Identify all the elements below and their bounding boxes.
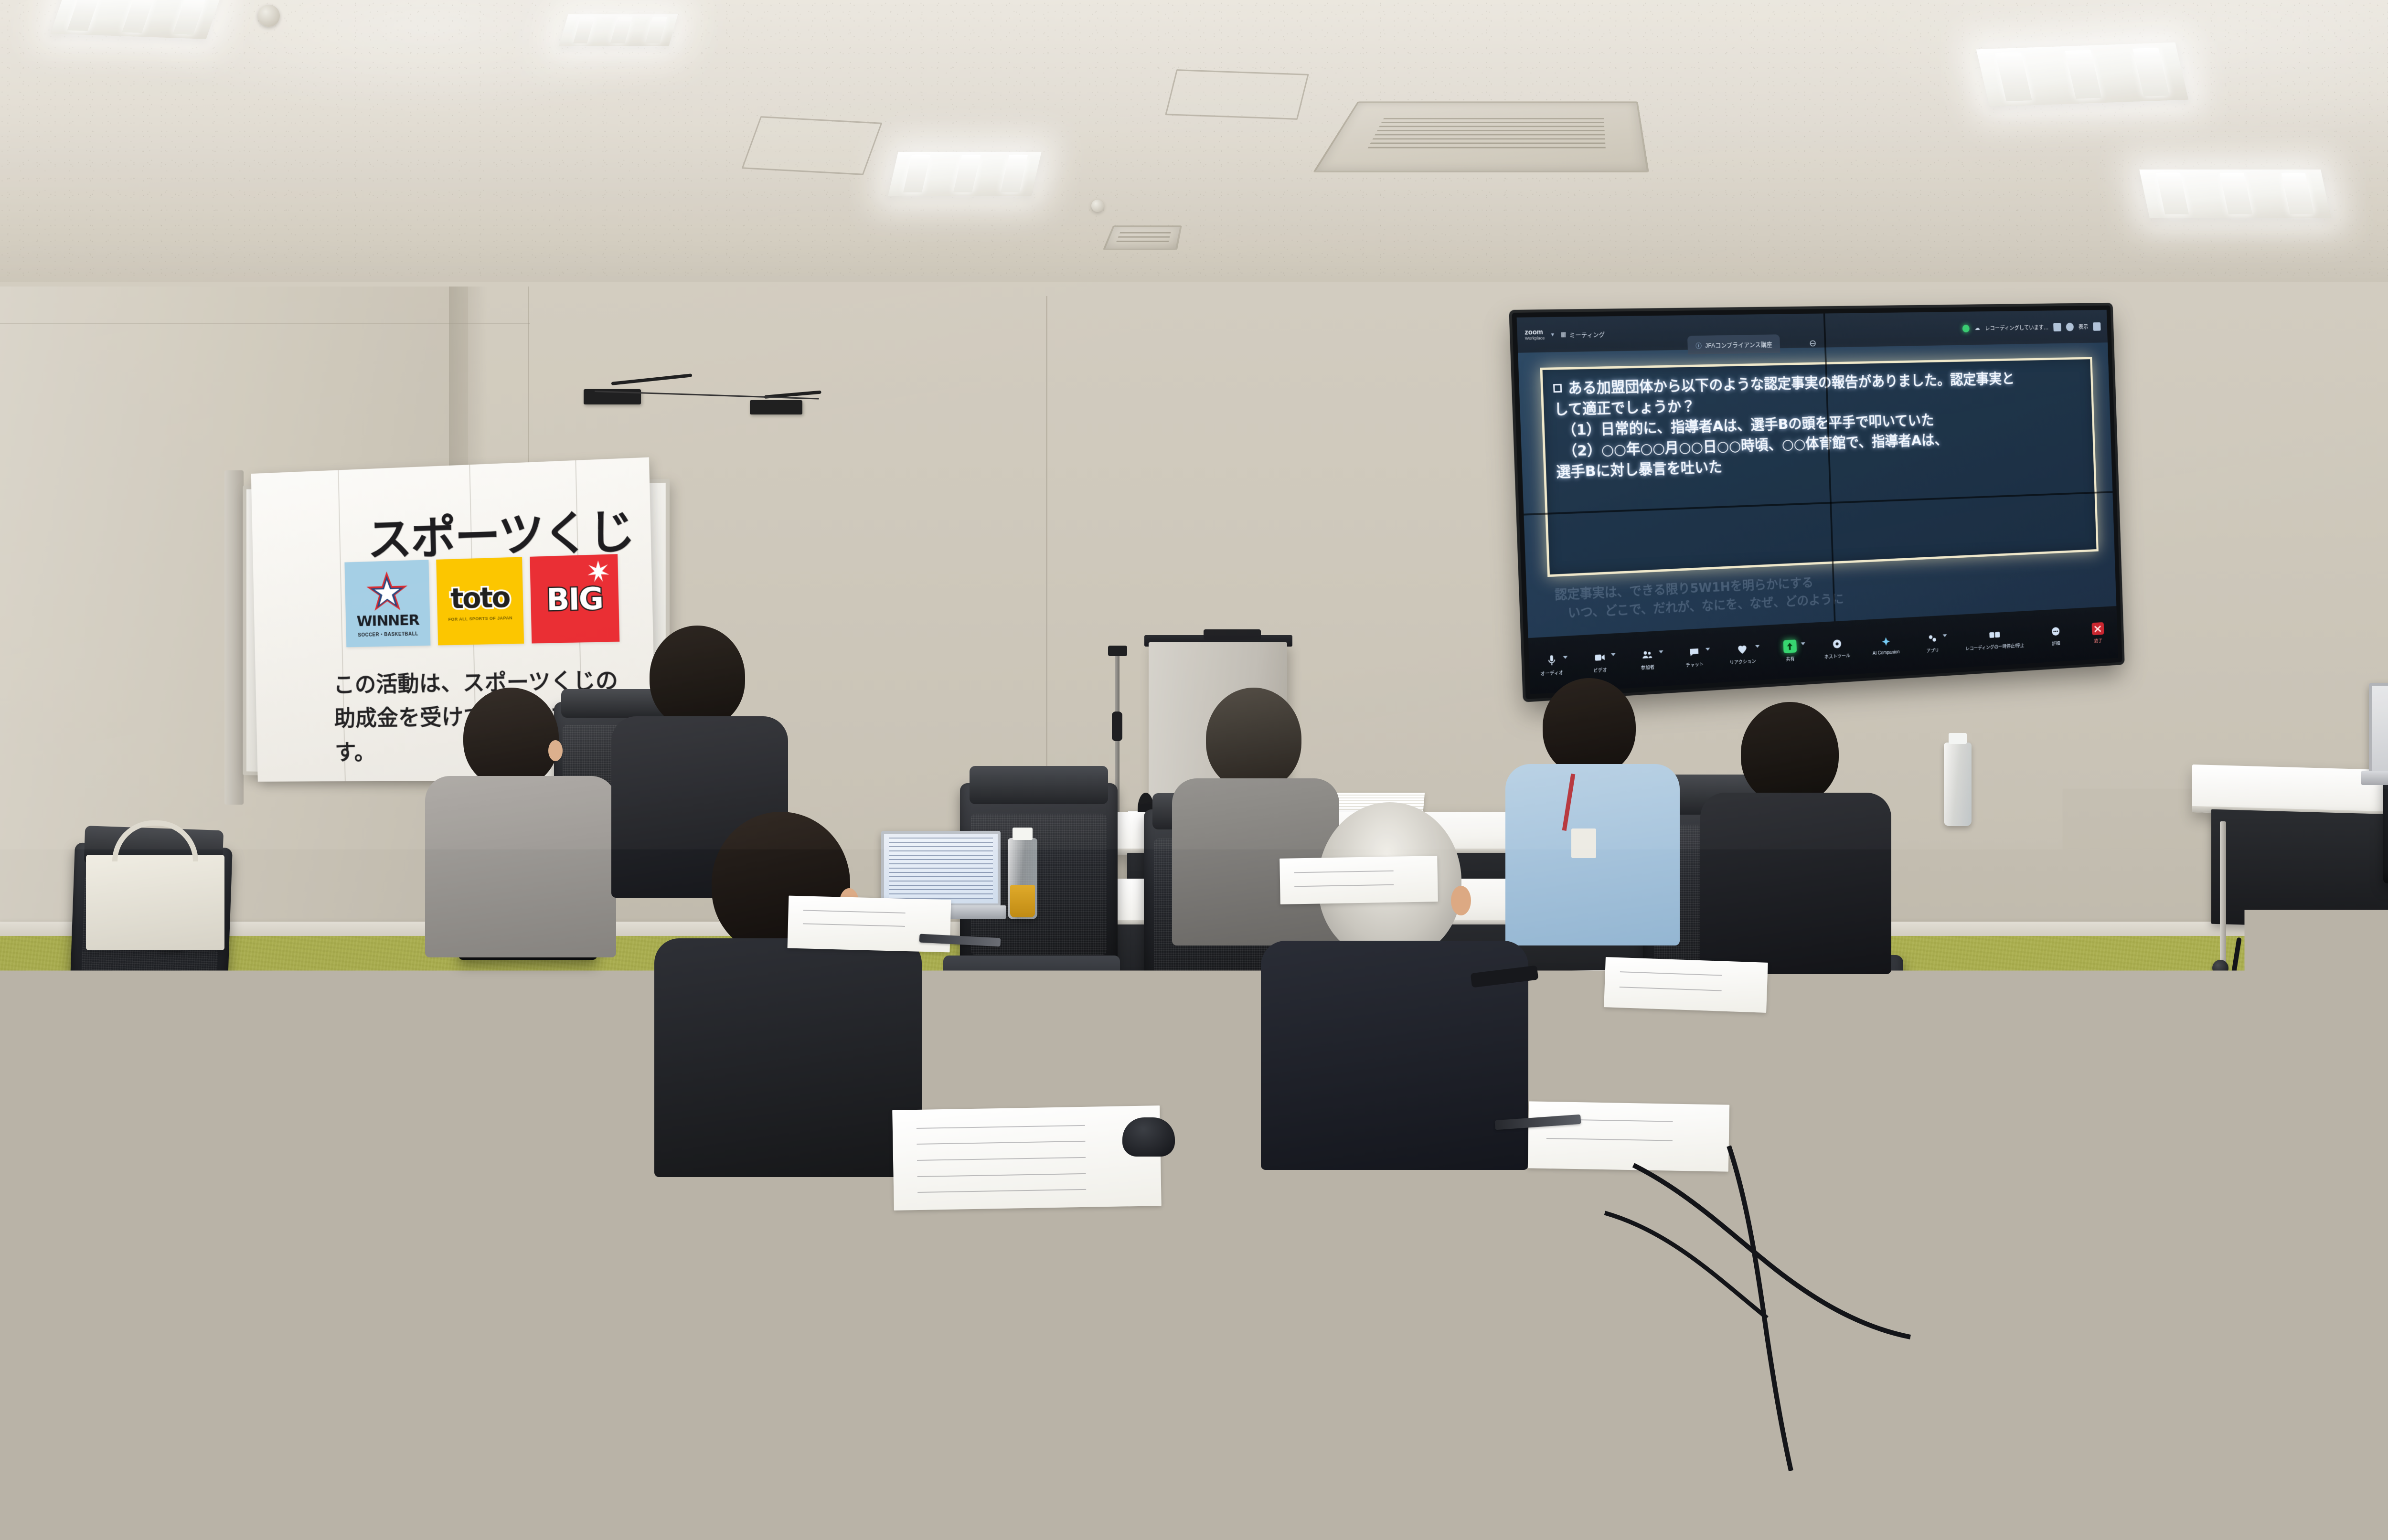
office-chair[interactable] (1158, 1135, 1397, 1454)
handout-paper[interactable] (290, 1005, 445, 1062)
banner-logo-row: WINNER SOCCER・BASKETBALL toto FOR ALL SP… (344, 554, 619, 647)
zoom-brand-sub: Workplace (1525, 336, 1545, 341)
person-torso (1700, 793, 1891, 974)
ceiling-access-panel (1165, 69, 1309, 120)
handout-paper[interactable] (199, 1434, 427, 1537)
zoom-recording-control-label: レコーディングの一時停止/停止 (1965, 641, 2024, 651)
smoke-detector-icon (1091, 200, 1104, 212)
ai-sparkle-icon (1879, 635, 1893, 648)
seminar-room-photo: スポーツくじ WINNER SOCCER・BASKETBALL toto FOR… (0, 0, 2388, 1540)
microphone-icon (1544, 653, 1558, 668)
chevron-up-icon[interactable] (1611, 653, 1616, 656)
zoom-chat-label: チャット (1685, 660, 1704, 669)
person-head (650, 626, 745, 728)
id-badge (1571, 828, 1596, 858)
chevron-up-icon[interactable] (1706, 648, 1710, 650)
display-label[interactable]: 表示 (2079, 323, 2089, 330)
bottle-cap (1013, 828, 1033, 840)
more-ellipsis-icon (2049, 625, 2062, 637)
square-bullet-icon (1553, 384, 1562, 393)
wall-seam (0, 323, 530, 324)
burst-icon (587, 560, 609, 582)
zoom-more-button[interactable]: 詳細 (2045, 624, 2067, 647)
bottle-liquid (1010, 885, 1035, 917)
slide-body-text: ある加盟団体から以下のような認定事実の報告がありました。認定事実と して適正でし… (1554, 371, 2015, 481)
person-torso (425, 776, 616, 957)
shield-check-icon (1962, 324, 1970, 332)
chevron-up-icon[interactable] (1563, 656, 1568, 659)
winner-logo-tile: WINNER SOCCER・BASKETBALL (344, 560, 430, 647)
zoom-meetings-label: ミーティング (1569, 329, 1605, 339)
handout-paper[interactable] (1604, 957, 1768, 1013)
wall-mount-bracket (750, 400, 802, 414)
zoom-participants-label: 参加者 (1641, 663, 1654, 671)
person-head (1741, 702, 1839, 805)
handout-paper[interactable] (788, 896, 951, 953)
floor-cables-left (1576, 1136, 2006, 1471)
end-call-icon (2091, 622, 2104, 635)
chevron-up-icon[interactable] (1755, 645, 1759, 648)
toto-logo-label: toto (450, 581, 510, 615)
video-wall: zoom Workplace ▾ ▦ ミーティング ☁ レコーディングしています… (1512, 306, 2122, 700)
zoom-reactions-label: リアクション (1729, 657, 1756, 666)
microphone-holder-icon (1108, 646, 1127, 656)
cardigan-rib-texture (435, 1328, 979, 1540)
handout-paper[interactable] (1279, 856, 1438, 904)
zoom-participants-button[interactable]: 参加者 (1635, 648, 1660, 671)
attendee-blue-shirt (1509, 678, 1676, 945)
big-logo-tile: BIG (530, 554, 619, 643)
share-screen-icon (1783, 639, 1797, 653)
zoom-chat-button[interactable]: チャット (1683, 645, 1706, 669)
person-torso (0, 1308, 220, 1540)
zoom-meeting-tab-label: JFAコンプライアンス講座 (1705, 340, 1772, 350)
toto-logo-sub: FOR ALL SPORTS OF JAPAN (448, 616, 512, 622)
whiteboard-stand-rail (224, 470, 244, 805)
recording-status-label: レコーディングしています… (1985, 323, 2049, 332)
chair-mesh (1175, 1185, 1380, 1422)
ceiling-light (888, 152, 1041, 196)
person-torso (654, 938, 922, 1177)
presentation-slide: ある加盟団体から以下のような認定事実の報告がありました。認定事実と して適正でし… (1540, 357, 2098, 577)
air-vent-icon (1313, 102, 1649, 172)
tote-bag[interactable] (86, 855, 224, 950)
chair-headrest (970, 766, 1108, 804)
laptop[interactable] (2369, 683, 2388, 788)
minus-circle-icon[interactable]: ⊖ (1809, 338, 1817, 349)
handout-paper[interactable] (8, 1168, 154, 1229)
yellow-folder[interactable] (43, 991, 177, 1029)
person-head (1543, 678, 1636, 776)
ceiling-texture (0, 0, 2388, 306)
winner-logo-sub: SOCCER・BASKETBALL (358, 629, 418, 638)
screen-icon[interactable] (2093, 322, 2101, 331)
zoom-share-label: 共有 (1786, 655, 1795, 662)
ceiling-light (2139, 170, 2331, 218)
microphone-stand-grip (1112, 712, 1122, 741)
ceiling-light (1976, 42, 2188, 107)
attendee-mid-left (659, 812, 917, 1175)
laptop-screen-content (889, 838, 993, 899)
air-vent-icon (1103, 225, 1182, 250)
black-notebook[interactable] (189, 1303, 398, 1385)
ceiling-light (50, 0, 222, 39)
cloud-icon: ☁ (1974, 325, 1980, 332)
laptop-keyboard-deck (2361, 771, 2388, 785)
ceiling-access-panel (741, 116, 882, 175)
winner-logo-label: WINNER (356, 611, 419, 630)
bottle-cap (1949, 733, 1967, 744)
computer-mouse[interactable] (1122, 1117, 1175, 1157)
ceiling-light (559, 14, 678, 46)
person-head (463, 688, 559, 788)
ceiling (0, 0, 2388, 306)
chat-bubble-icon (1687, 645, 1701, 659)
info-icon: ⓘ (1695, 340, 1702, 350)
zoom-ai-companion-button[interactable]: AI Companion (1872, 635, 1900, 656)
apps-icon (1926, 631, 1939, 645)
person-head (1206, 688, 1301, 790)
star-icon (365, 570, 409, 613)
zoom-ai-companion-label: AI Companion (1873, 649, 1900, 656)
expand-icon[interactable] (2066, 322, 2074, 331)
participants-icon (1640, 648, 1654, 661)
zoom-audio-button[interactable]: オーディオ (1539, 653, 1564, 677)
floor-cables (2006, 931, 2388, 1361)
person-ear (1451, 886, 1471, 915)
tea-bottle[interactable] (1008, 838, 1037, 919)
attendee-grey-suit (425, 688, 616, 955)
zoom-brand: zoom Workplace (1524, 329, 1545, 341)
chevron-down-icon[interactable]: ▾ (1551, 331, 1554, 339)
zoom-more-label: 詳細 (2052, 639, 2060, 647)
laptop-screen (936, 993, 1118, 1113)
video-camera-icon (1592, 650, 1607, 664)
water-bottle[interactable] (1944, 743, 1972, 826)
smoke-detector-icon (258, 5, 280, 27)
chevron-up-icon[interactable] (1943, 634, 1947, 637)
pause-stop-recording-icon (1988, 628, 2001, 641)
reaction-icon (1736, 642, 1749, 656)
zoom-meetings-tab[interactable]: ▦ ミーティング (1560, 329, 1605, 339)
zoom-host-tools-button[interactable]: ホストツール (1824, 637, 1851, 660)
camera-unit (1204, 629, 1261, 640)
attendee-black-top (1705, 702, 1887, 969)
person-ear (548, 740, 563, 761)
layout-icon[interactable] (2053, 323, 2061, 331)
zoom-apps-label: アプリ (1926, 647, 1939, 654)
handout-paper[interactable] (1074, 1468, 1333, 1540)
zoom-topbar-right: ☁ レコーディングしています… 表示 (1962, 322, 2101, 333)
zoom-share-screen-button[interactable]: 共有 (1778, 639, 1802, 663)
open-notebook[interactable] (892, 1105, 1162, 1211)
chevron-up-icon[interactable] (1801, 642, 1805, 645)
grid-icon: ▦ (1560, 330, 1567, 338)
presenter-table-modesty-panel (2211, 809, 2388, 937)
zoom-meeting-tab[interactable]: ⓘ JFAコンプライアンス講座 (1687, 334, 1780, 354)
tv-screen: zoom Workplace ▾ ▦ ミーティング ☁ レコーディングしています… (1517, 310, 2118, 694)
zoom-end-label: 終了 (2094, 637, 2102, 644)
zoom-pause-stop-recording-button[interactable]: レコーディングの一時停止/停止 (1965, 627, 2024, 651)
zoom-end-meeting-button[interactable]: 終了 (2087, 622, 2109, 644)
zoom-apps-button[interactable]: アプリ (1921, 631, 1943, 654)
zoom-reactions-button[interactable]: リアクション (1729, 642, 1756, 666)
host-tools-icon (1830, 637, 1844, 650)
big-logo-label: BIG (546, 581, 603, 617)
red-marker-cap[interactable] (337, 1409, 389, 1471)
zoom-video-button[interactable]: ビデオ (1588, 650, 1612, 674)
laptop-screen (2369, 683, 2388, 774)
zoom-video-label: ビデオ (1593, 666, 1607, 674)
zoom-audio-label: オーディオ (1540, 669, 1564, 677)
zoom-host-tools-label: ホストツール (1824, 652, 1851, 660)
toto-logo-tile: toto FOR ALL SPORTS OF JAPAN (436, 557, 524, 645)
chevron-up-icon[interactable] (1659, 650, 1663, 653)
